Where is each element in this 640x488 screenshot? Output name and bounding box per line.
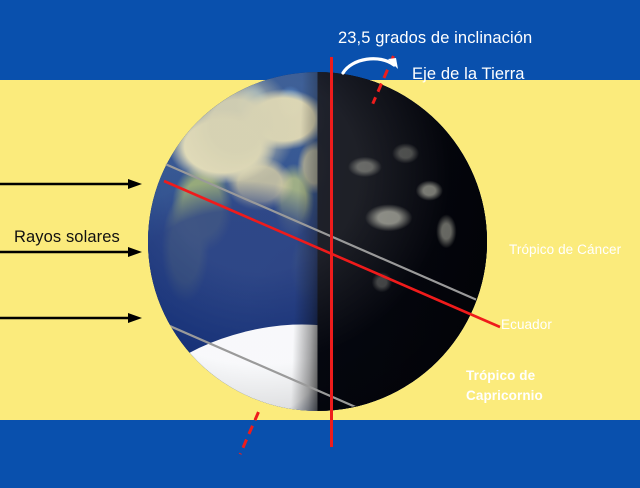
label-earth-axis: Eje de la Tierra bbox=[412, 65, 525, 84]
vertical-reference-axis bbox=[330, 57, 333, 447]
sun-ray-top bbox=[0, 178, 150, 190]
figure-canvas: 23,5 grados de inclinación Eje de la Tie… bbox=[0, 0, 640, 488]
label-tropic-of-capricorn-line1: Trópico de bbox=[466, 366, 543, 386]
label-tilt-degrees: 23,5 grados de inclinación bbox=[338, 29, 532, 48]
tropic-of-capricorn-line bbox=[140, 313, 500, 470]
label-tropic-of-capricorn-line2: Capricornio bbox=[466, 386, 543, 406]
label-sun-rays: Rayos solares bbox=[14, 228, 120, 247]
sun-ray-middle bbox=[0, 246, 150, 258]
sun-ray-bottom bbox=[0, 312, 150, 324]
label-tropic-of-cancer: Trópico de Cáncer bbox=[509, 242, 621, 257]
label-equator: Ecuador bbox=[501, 317, 552, 332]
tropic-of-cancer-line bbox=[140, 153, 500, 310]
label-tropic-of-capricorn: Trópico de Capricornio bbox=[466, 366, 543, 406]
curved-arrow-icon bbox=[340, 52, 406, 82]
